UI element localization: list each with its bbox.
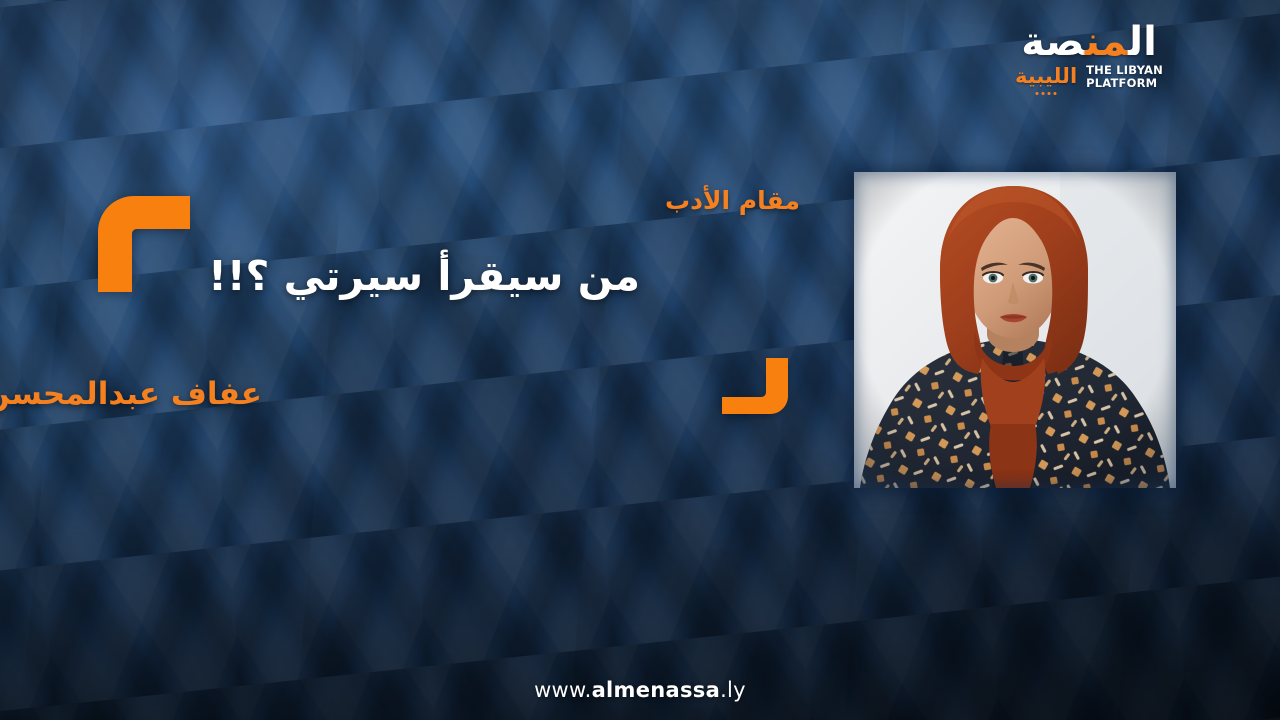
closing-quote-mark-icon	[722, 358, 788, 414]
logo-subtitle-row: الليبية THE LIBYAN PLATFORM	[994, 64, 1184, 90]
kicker-label: مقام الأدب	[665, 186, 800, 215]
logo-wordmark-part-2: صة	[1021, 19, 1085, 65]
logo-wordmark-part-1: ال	[1128, 19, 1157, 65]
author-portrait-photo	[854, 172, 1176, 488]
logo-dots-decoration	[1036, 92, 1057, 95]
website-url[interactable]: www.almenassa.ly	[0, 678, 1280, 702]
logo-subtitle-arabic: الليبية	[1015, 66, 1077, 87]
logo-wordmark-accent: من	[1085, 19, 1128, 65]
url-suffix: .ly	[720, 678, 746, 702]
opening-quote-mark-icon	[98, 196, 190, 292]
logo-wordmark-arabic: المنصة	[994, 22, 1184, 62]
url-brand: almenassa	[592, 678, 721, 702]
author-name: عفاف عبدالمحسن	[0, 376, 262, 412]
logo-subtitle-arabic-text: الليبية	[1015, 64, 1077, 88]
brand-logo: المنصة الليبية THE LIBYAN PLATFORM	[994, 22, 1184, 90]
logo-subtitle-en-line-1: THE LIBYAN	[1086, 64, 1163, 77]
logo-subtitle-english: THE LIBYAN PLATFORM	[1086, 64, 1163, 90]
logo-subtitle-en-line-2: PLATFORM	[1086, 77, 1163, 90]
headline-text: من سيقرأ سيرتي ؟!!	[208, 252, 640, 300]
poster-canvas: المنصة الليبية THE LIBYAN PLATFORM مقام …	[0, 0, 1280, 720]
url-prefix: www.	[534, 678, 591, 702]
